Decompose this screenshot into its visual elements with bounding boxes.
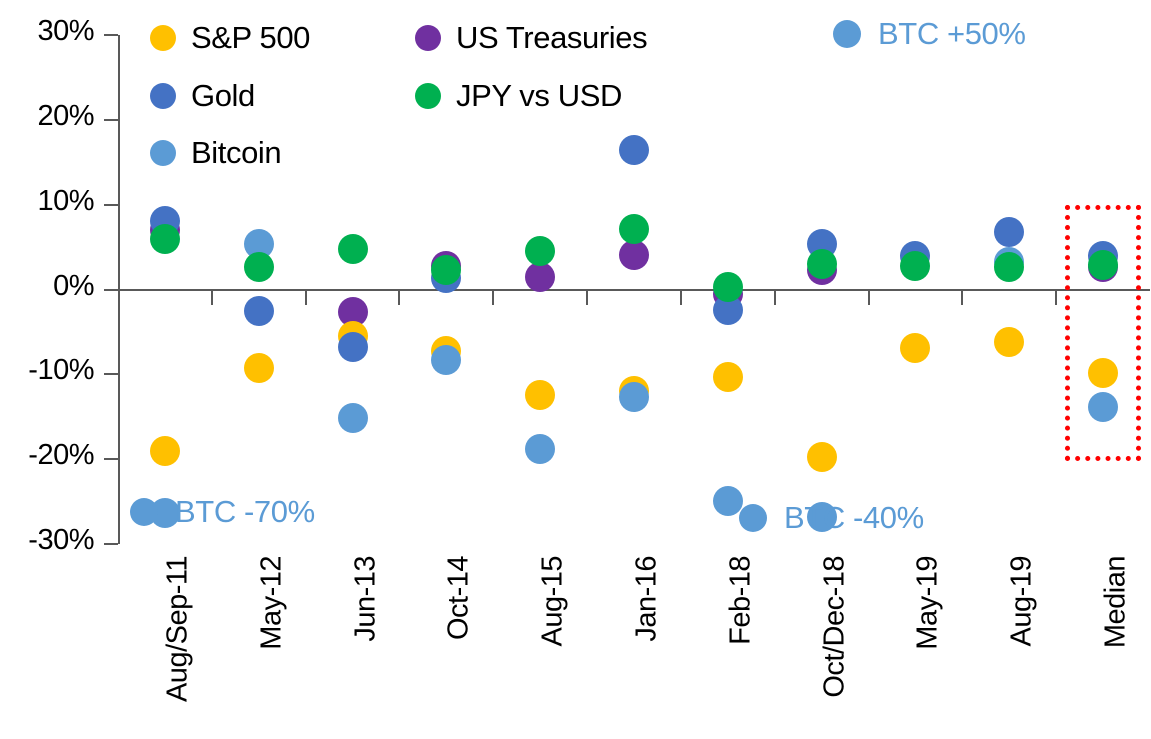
data-point-s-p-500	[525, 380, 555, 410]
data-point-jpy-vs-usd	[338, 234, 368, 264]
y-axis-label: 20%	[37, 100, 94, 133]
x-axis-label-jan-16: Jan-16	[647, 556, 680, 642]
data-point-jpy-vs-usd	[994, 252, 1024, 282]
legend-swatch	[150, 140, 176, 166]
legend-label: JPY vs USD	[456, 78, 622, 114]
data-point-gold	[338, 332, 368, 362]
data-point-bitcoin	[619, 382, 649, 412]
annotation-label: BTC -70%	[175, 494, 315, 530]
x-axis-tick	[680, 291, 682, 305]
legend-swatch	[150, 25, 176, 51]
x-axis-label-text: Feb-18	[724, 556, 757, 645]
data-point-jpy-vs-usd	[807, 249, 837, 279]
legend-label: Gold	[191, 78, 255, 114]
data-point-gold	[244, 296, 274, 326]
x-axis-label-text: Oct/Dec-18	[818, 556, 851, 698]
x-axis-label-aug-15: Aug-15	[553, 556, 586, 647]
data-point-bitcoin	[431, 345, 461, 375]
x-axis-label-text: Aug-15	[537, 556, 570, 647]
annotation-dot	[130, 498, 158, 526]
y-axis-tick	[104, 458, 118, 460]
y-axis-tick	[104, 373, 118, 375]
y-axis-tick	[104, 34, 118, 36]
data-point-us-treasuries	[525, 262, 555, 292]
annotation-dot	[833, 20, 861, 48]
x-axis-label-text: Jun-13	[349, 556, 382, 642]
data-point-gold	[619, 135, 649, 165]
x-axis-tick	[398, 291, 400, 305]
legend-swatch	[415, 25, 441, 51]
legend-swatch	[150, 83, 176, 109]
chart-canvas: 30%20%10%0%-10%-20%-30%Aug/Sep-11May-12J…	[0, 0, 1151, 739]
data-point-gold	[994, 217, 1024, 247]
annotation-btc-plus-50: BTC +50%	[833, 16, 1026, 52]
x-axis-label-may-19: May-19	[928, 556, 961, 650]
x-axis-label-text: Jan-16	[631, 556, 664, 642]
y-axis-tick	[104, 289, 118, 291]
x-axis-label-jun-13: Jun-13	[366, 556, 399, 642]
data-point-jpy-vs-usd	[713, 272, 743, 302]
data-point-bitcoin	[338, 403, 368, 433]
y-axis-label: -10%	[28, 354, 94, 387]
x-axis-tick	[868, 291, 870, 305]
data-point-s-p-500	[150, 436, 180, 466]
x-axis-label-text: Aug/Sep-11	[161, 556, 194, 702]
annotation-dot	[739, 504, 767, 532]
x-axis-label-aug-19: Aug-19	[1022, 556, 1055, 647]
x-axis-label-aug-sep-11: Aug/Sep-11	[178, 556, 211, 702]
legend-item-us-treasuries[interactable]: US Treasuries	[415, 20, 647, 56]
legend-swatch	[415, 83, 441, 109]
data-point-us-treasuries	[619, 240, 649, 270]
x-axis-label-text: May-19	[912, 556, 945, 650]
x-axis-tick	[774, 291, 776, 305]
data-point-jpy-vs-usd	[244, 252, 274, 282]
y-axis-label: 10%	[37, 185, 94, 218]
annotation-label: BTC +50%	[878, 16, 1026, 52]
y-axis-label: 0%	[53, 270, 94, 303]
x-axis-tick	[586, 291, 588, 305]
y-axis-label: 30%	[37, 15, 94, 48]
data-point-jpy-vs-usd	[619, 214, 649, 244]
annotation-btc-minus-40: BTC -40%	[739, 500, 924, 536]
y-axis-tick	[104, 204, 118, 206]
data-point-s-p-500	[807, 442, 837, 472]
annotation-label: BTC -40%	[784, 500, 924, 536]
x-axis-tick	[305, 291, 307, 305]
data-point-s-p-500	[994, 327, 1024, 357]
legend-label: US Treasuries	[456, 20, 647, 56]
legend-item-bitcoin[interactable]: Bitcoin	[150, 135, 281, 171]
legend-item-jpy-vs-usd[interactable]: JPY vs USD	[415, 78, 622, 114]
annotation-btc-minus-70: BTC -70%	[130, 494, 315, 530]
y-axis-tick	[104, 543, 118, 545]
data-point-bitcoin	[525, 434, 555, 464]
x-axis-tick	[211, 291, 213, 305]
y-axis-tick	[104, 119, 118, 121]
y-axis-label: -30%	[28, 524, 94, 557]
x-axis-tick	[492, 291, 494, 305]
data-point-s-p-500	[900, 333, 930, 363]
y-axis-label: -20%	[28, 439, 94, 472]
legend-label: Bitcoin	[191, 135, 281, 171]
x-axis-label-oct-14: Oct-14	[459, 556, 492, 640]
data-point-jpy-vs-usd	[150, 224, 180, 254]
data-point-s-p-500	[713, 362, 743, 392]
data-point-jpy-vs-usd	[525, 236, 555, 266]
x-axis-label-oct-dec-18: Oct/Dec-18	[835, 556, 868, 698]
x-axis-label-feb-18: Feb-18	[741, 556, 774, 645]
x-axis-label-text: Median	[1100, 556, 1133, 648]
data-point-s-p-500	[1088, 358, 1118, 388]
x-axis-label-text: Oct-14	[443, 556, 476, 640]
x-axis-tick	[1055, 291, 1057, 305]
x-axis-label-median: Median	[1116, 556, 1149, 648]
data-point-jpy-vs-usd	[1088, 250, 1118, 280]
legend-label: S&P 500	[191, 20, 310, 56]
data-point-s-p-500	[244, 353, 274, 383]
x-axis-label-text: May-12	[255, 556, 288, 650]
data-point-jpy-vs-usd	[900, 251, 930, 281]
x-axis-tick	[961, 291, 963, 305]
scatter-plot-area: 30%20%10%0%-10%-20%-30%Aug/Sep-11May-12J…	[0, 0, 1151, 739]
legend-item-gold[interactable]: Gold	[150, 78, 255, 114]
x-axis-label-may-12: May-12	[272, 556, 305, 650]
zero-baseline	[118, 289, 1150, 291]
x-axis-label-text: Aug-19	[1006, 556, 1039, 647]
legend-item-s-p-500[interactable]: S&P 500	[150, 20, 310, 56]
